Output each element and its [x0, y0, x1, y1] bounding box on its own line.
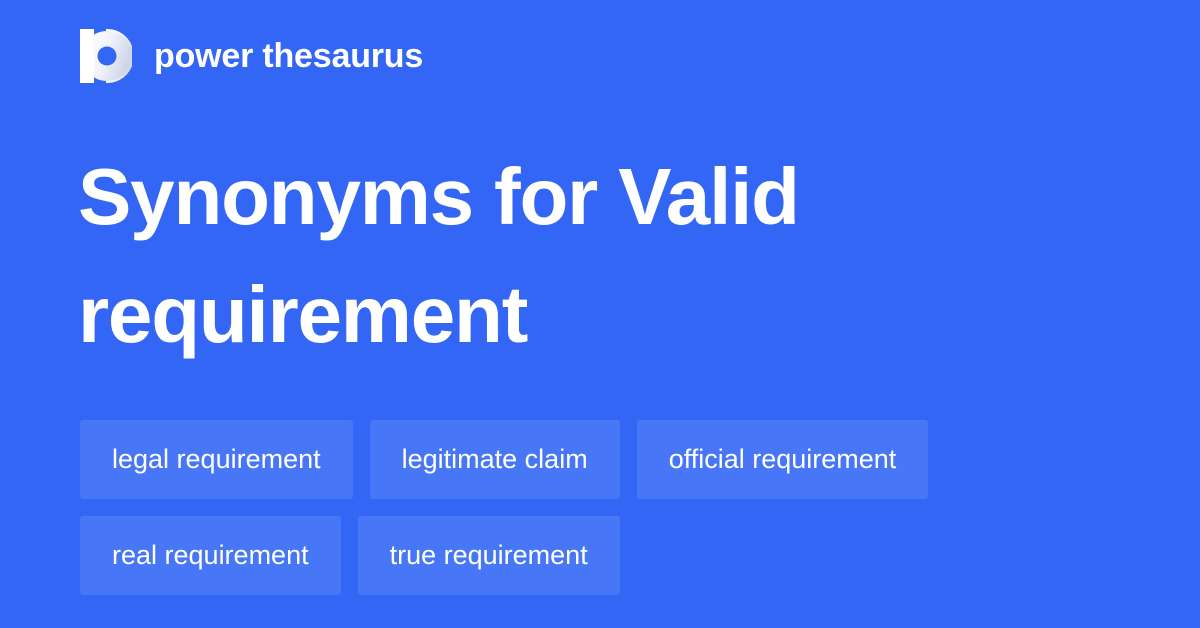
synonym-chip[interactable]: legitimate claim	[370, 420, 620, 499]
page-title: Synonyms for Valid requirement	[78, 138, 1118, 374]
brand-name-label: power thesaurus	[154, 39, 423, 73]
synonym-chip-label: legitimate claim	[402, 446, 588, 473]
synonym-chip[interactable]: true requirement	[358, 516, 620, 595]
synonym-chip-label: official requirement	[669, 446, 897, 473]
synonym-chip-label: real requirement	[112, 542, 309, 569]
synonyms-og-card: power thesaurus Synonyms for Valid requi…	[0, 0, 1200, 628]
synonym-chip[interactable]: official requirement	[637, 420, 929, 499]
synonym-chip-list: legal requirement legitimate claim offic…	[80, 420, 1120, 595]
power-thesaurus-b-logo-icon	[80, 29, 132, 83]
synonym-chip[interactable]: real requirement	[80, 516, 341, 595]
synonym-chip[interactable]: legal requirement	[80, 420, 353, 499]
brand-logo[interactable]: power thesaurus	[80, 28, 423, 84]
synonym-chip-label: legal requirement	[112, 446, 321, 473]
synonym-chip-label: true requirement	[390, 542, 588, 569]
